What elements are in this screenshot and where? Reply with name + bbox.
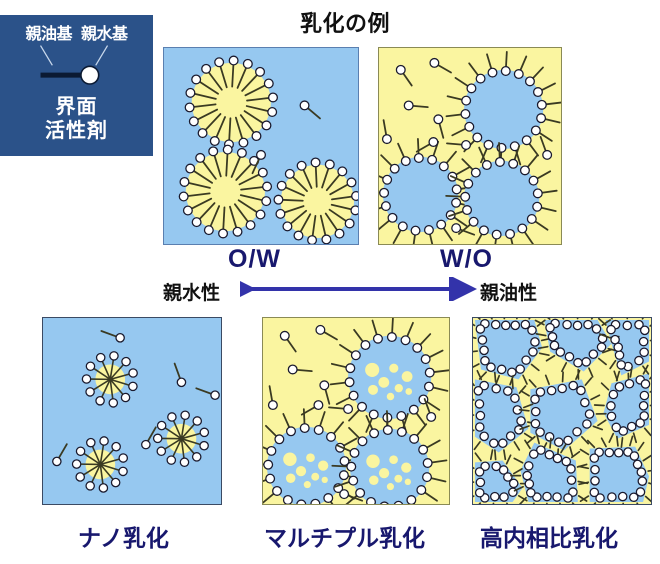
water-in-oil-illustration — [379, 48, 561, 244]
label-nano-emulsion: ナノ乳化 — [78, 519, 169, 553]
legend-surfactant-name: 界面 活性剤 — [1, 96, 152, 143]
oil-in-water-illustration — [164, 48, 358, 244]
panel-oil-in-water — [163, 47, 359, 245]
surfactant-legend-box: 親油基 親水基 界面 活性剤 — [0, 15, 153, 156]
label-high-internal-phase: 高内相比乳化 — [480, 519, 618, 553]
panel-high-internal-phase-emulsion — [472, 317, 652, 505]
legend-name-line2: 活性剤 — [1, 120, 152, 144]
label-wo: W/O — [440, 245, 493, 274]
panel-water-in-oil — [378, 47, 562, 245]
panel-multiple-emulsion — [262, 317, 450, 505]
legend-name-line1: 界面 — [1, 96, 152, 120]
label-ow: O/W — [228, 245, 281, 274]
label-hydrophilic: 親水性 — [163, 278, 220, 305]
nano-emulsion-illustration — [43, 318, 221, 504]
panel-nano-emulsion — [42, 317, 222, 505]
page-title: 乳化の例 — [300, 6, 390, 38]
high-internal-phase-illustration — [473, 318, 651, 504]
label-multiple-emulsion: マルチプル乳化 — [264, 519, 425, 553]
label-lipophilic: 親油性 — [480, 278, 537, 305]
multiple-emulsion-illustration — [263, 318, 449, 504]
hydrophilic-lipophilic-arrow — [240, 277, 485, 301]
